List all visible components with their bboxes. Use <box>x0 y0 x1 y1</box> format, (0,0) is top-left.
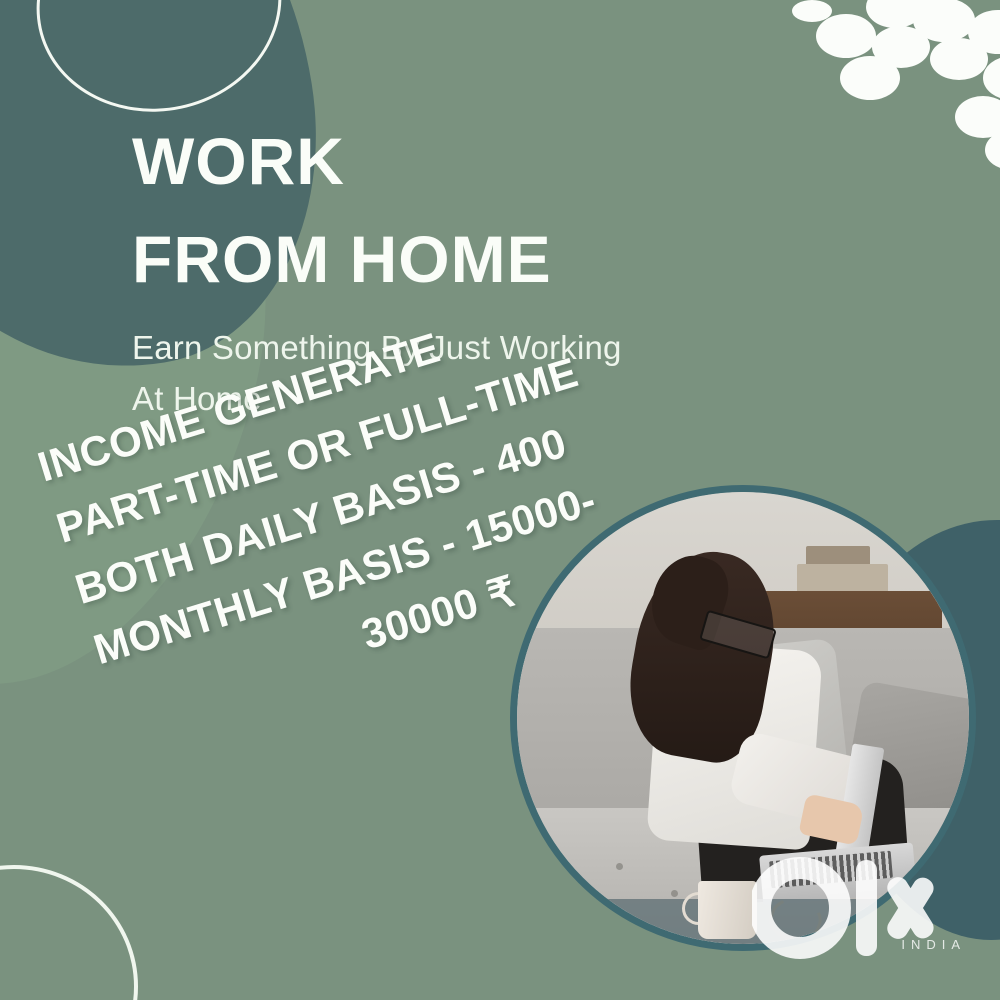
decorative-dot <box>792 0 832 22</box>
photo-mug <box>698 881 757 940</box>
decorative-ring-bottom-left <box>0 865 138 1000</box>
decorative-dot <box>955 96 1000 138</box>
headline-line-1: WORK <box>132 124 345 198</box>
page-title: WORK FROM HOME <box>132 128 552 292</box>
olx-region-label: INDIA <box>901 937 966 952</box>
decorative-dot <box>930 38 988 80</box>
decorative-dot <box>840 56 900 100</box>
olx-logo <box>752 850 982 970</box>
decorative-dot <box>816 14 876 58</box>
headline-line-2: FROM HOME <box>132 226 552 292</box>
photo-tuft <box>671 890 678 897</box>
poster-canvas: WORK FROM HOME Earn Something By Just Wo… <box>0 0 1000 1000</box>
